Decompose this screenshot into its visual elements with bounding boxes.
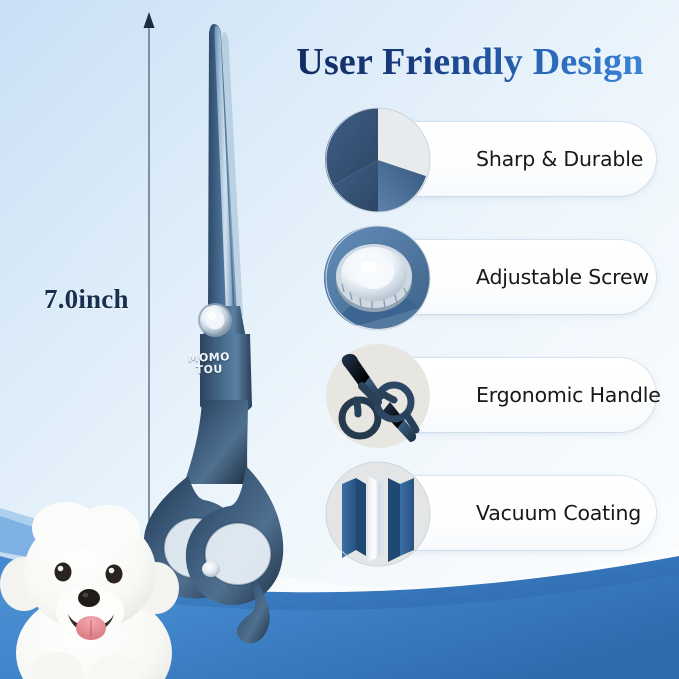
scissor-handle-icon (322, 340, 434, 452)
coated-blades-icon (322, 458, 434, 570)
feature-label: Adjustable Screw (476, 240, 649, 314)
screw-icon (322, 222, 434, 334)
product-infographic: 7.0inch (0, 0, 679, 679)
feature-label: Sharp & Durable (476, 122, 643, 196)
bichon-frise-dog (0, 488, 202, 679)
feature-list: Sharp & Durable Adjustable Screw (322, 104, 652, 564)
blade-edge-icon (322, 104, 434, 216)
page-title: User Friendly Design (278, 40, 662, 84)
feature-label: Ergonomic Handle (476, 358, 661, 432)
feature-label: Vacuum Coating (476, 476, 641, 550)
